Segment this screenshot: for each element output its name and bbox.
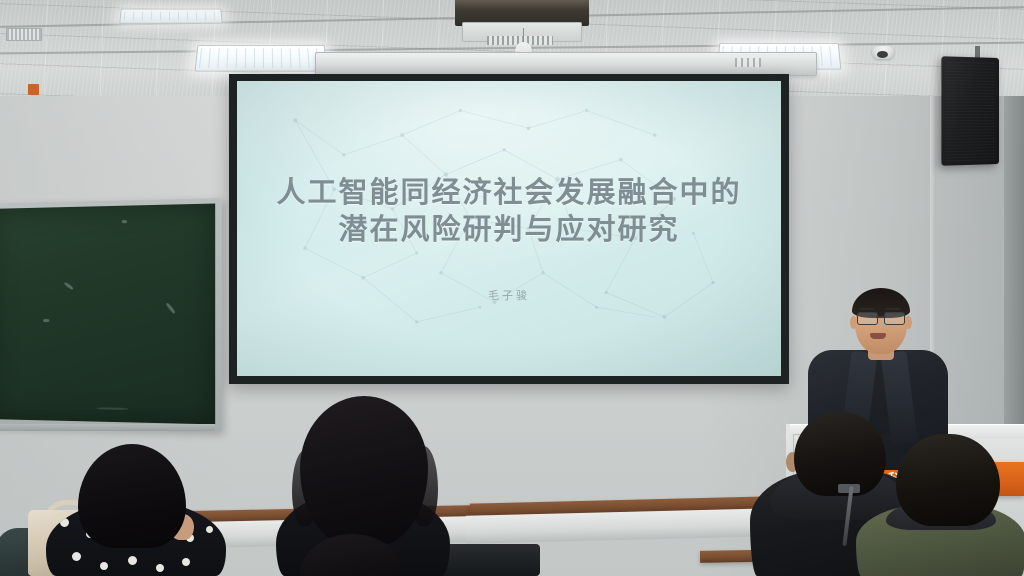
presenter-brow-right bbox=[885, 308, 900, 310]
blackboard-frame bbox=[0, 198, 222, 432]
presenter-glasses-lens-left bbox=[857, 312, 878, 325]
screen-control-panel[interactable] bbox=[735, 58, 761, 67]
audience-woman-long-hair-head bbox=[300, 396, 428, 546]
presenter-ear-left bbox=[850, 316, 857, 329]
blackboard bbox=[0, 203, 215, 424]
dome-camera-icon bbox=[872, 46, 894, 59]
ceiling-light-center bbox=[119, 9, 223, 24]
presenter-mouth bbox=[870, 333, 886, 339]
slide-title-line-1: 人工智能同经济社会发展融合中的 bbox=[237, 175, 781, 212]
presenter-ear-right bbox=[905, 316, 912, 329]
chalk-tray bbox=[0, 424, 215, 431]
presenter-glasses-lens-right bbox=[884, 312, 905, 325]
presenter-glasses-bridge bbox=[876, 316, 884, 318]
slide-author: 毛子骏 bbox=[237, 287, 781, 303]
projection-screen: 人工智能同经济社会发展融合中的 潜在风险研判与应对研究 毛子骏 bbox=[237, 81, 781, 376]
air-vent-icon bbox=[6, 28, 42, 41]
slide-title-line-2: 潜在风险研判与应对研究 bbox=[237, 212, 781, 249]
slide-title: 人工智能同经济社会发展融合中的 潜在风险研判与应对研究 bbox=[237, 175, 781, 249]
speaker-brand-badge bbox=[28, 84, 39, 95]
ceiling-light-left bbox=[195, 45, 328, 72]
presenter-brow-left bbox=[859, 308, 874, 310]
projection-screen-frame: 人工智能同经济社会发展融合中的 潜在风险研判与应对研究 毛子骏 bbox=[229, 74, 789, 384]
speaker-grille bbox=[945, 60, 995, 161]
wall-speaker bbox=[941, 56, 999, 166]
audience-man-olive-jacket-head bbox=[896, 434, 1000, 526]
lecture-hall-scene: 人工智能同经济社会发展融合中的 潜在风险研判与应对研究 毛子骏 科技 学院 bbox=[0, 0, 1024, 576]
